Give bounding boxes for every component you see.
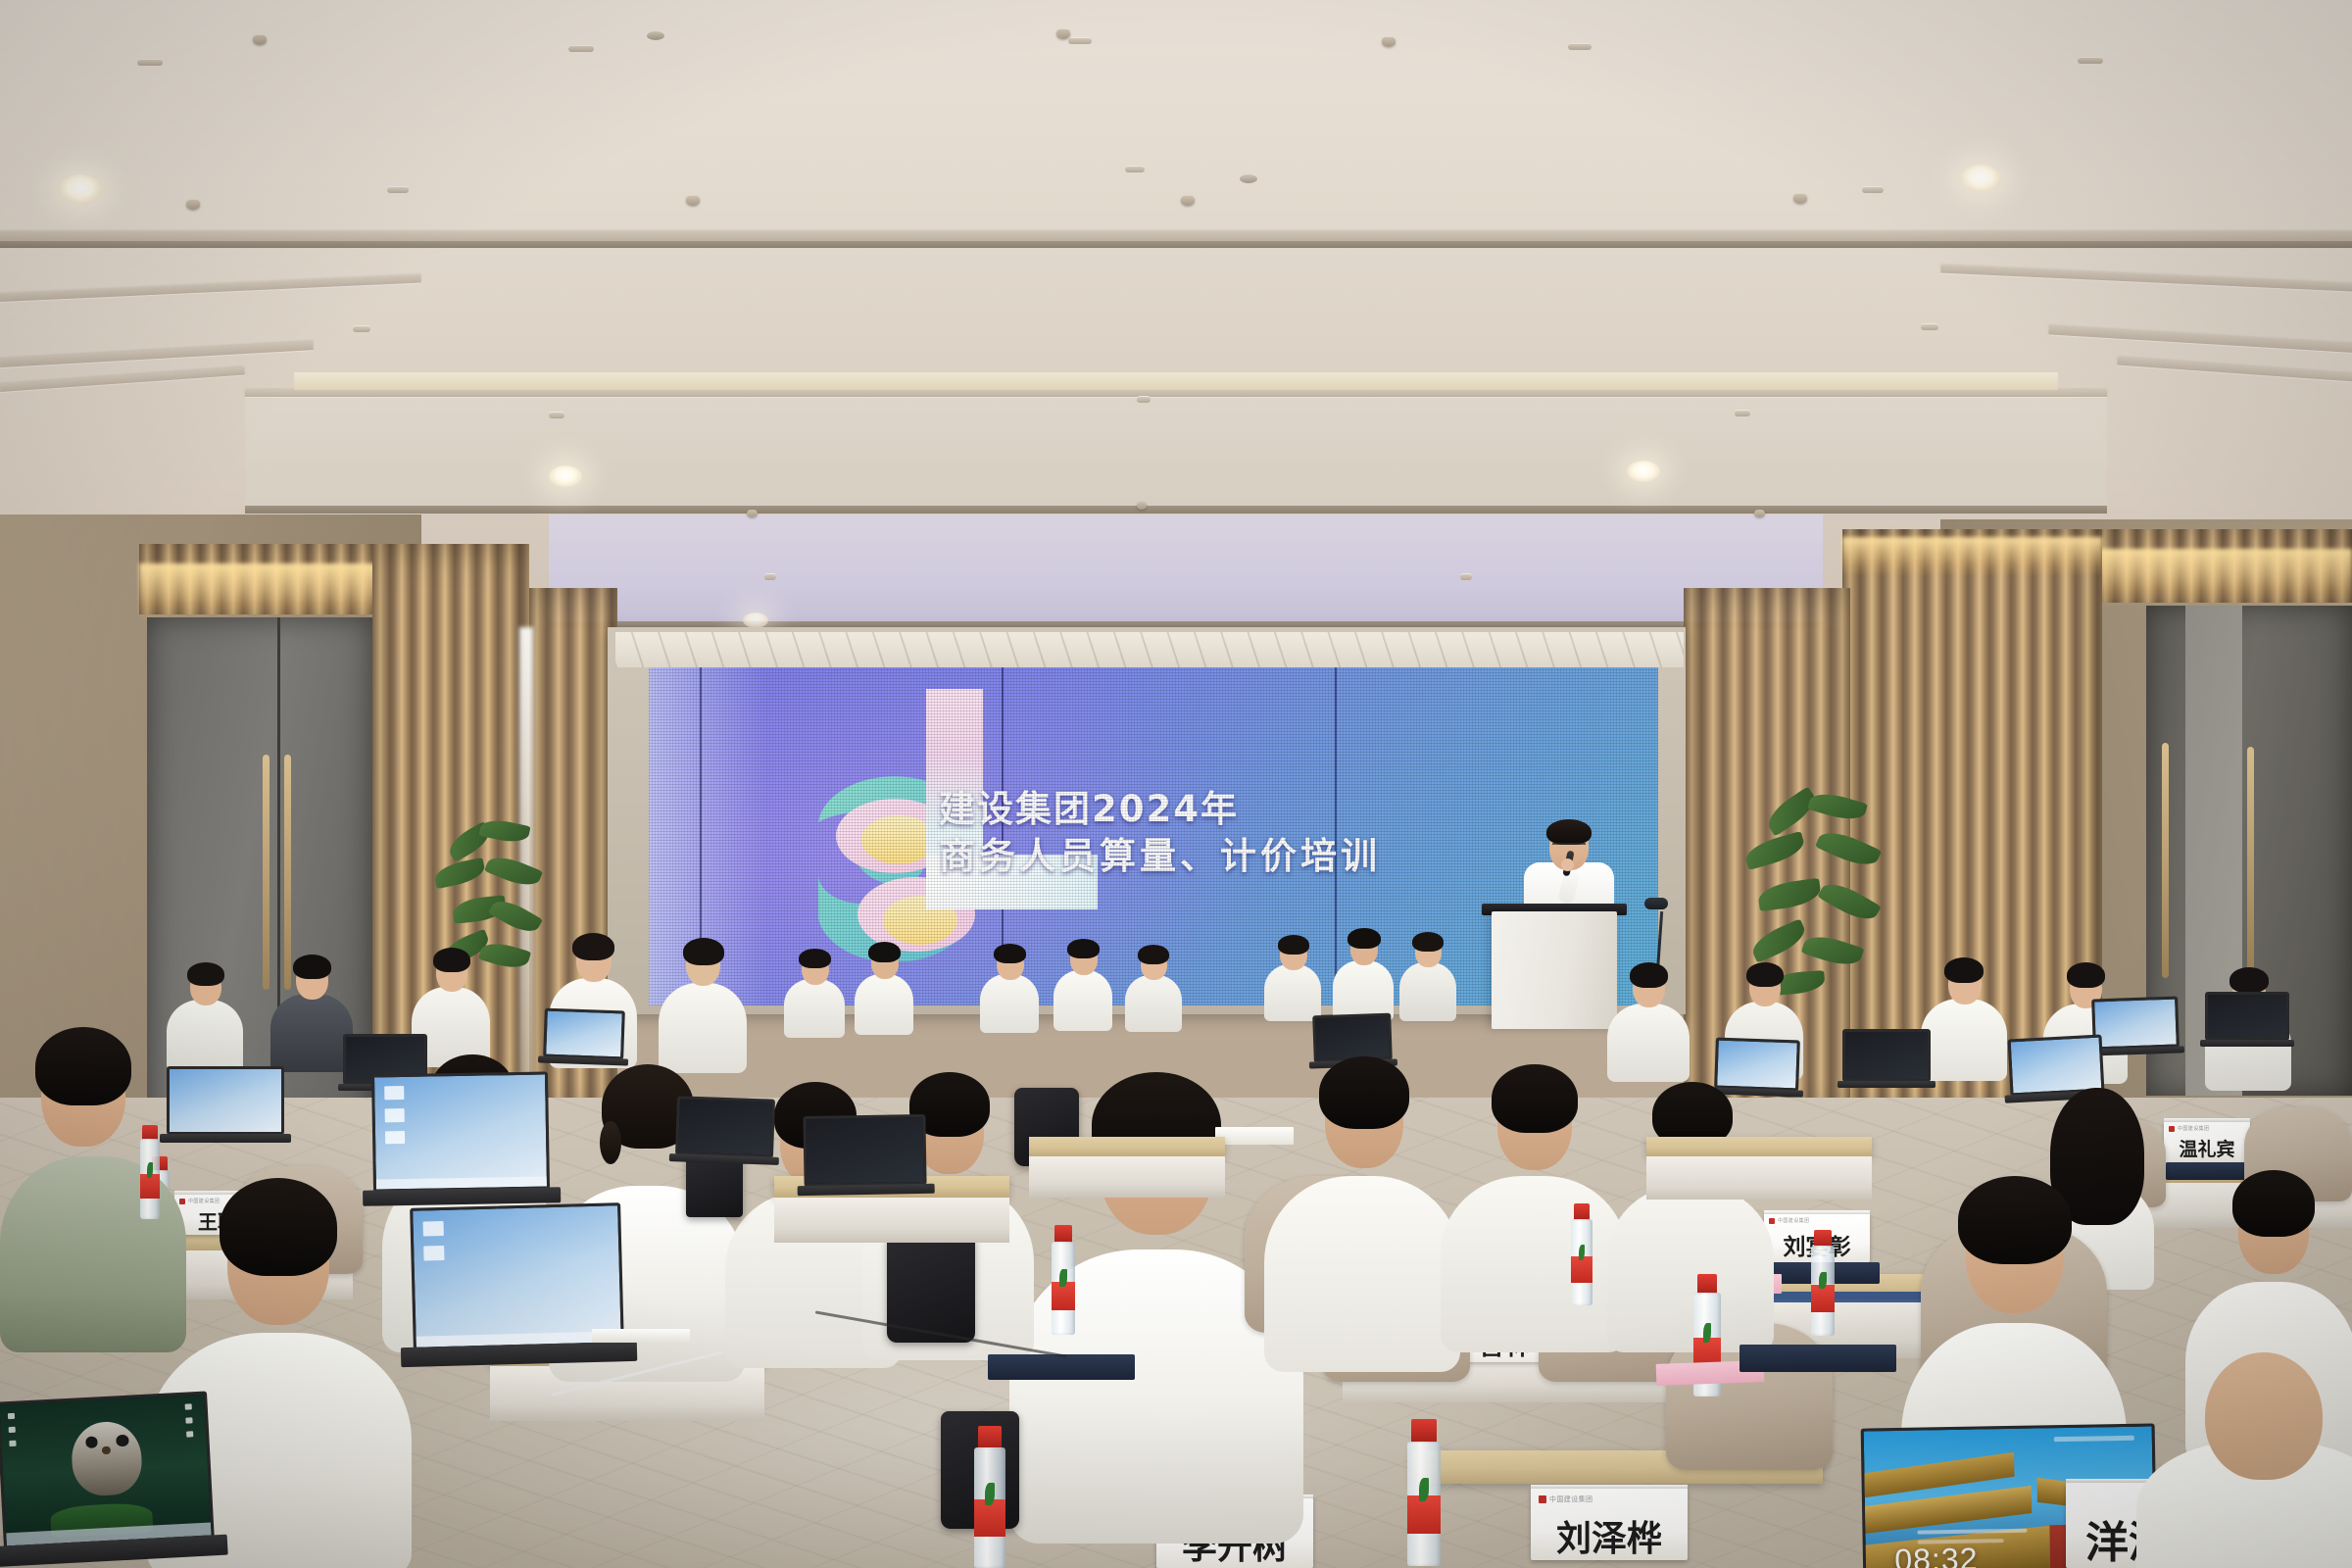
mic-head <box>1644 898 1668 909</box>
ceiling-beam <box>1940 265 2352 291</box>
name-card-org: 中国建设集团 <box>2178 1125 2209 1132</box>
ceiling-beam <box>245 390 2107 397</box>
screen-title: 建设集团2024年 商务人员算量、计价培训 <box>939 787 1605 881</box>
table-skirt <box>1029 1156 1225 1198</box>
attendee <box>1441 1049 1627 1343</box>
laptop[interactable] <box>167 1066 284 1135</box>
table <box>1646 1137 1872 1156</box>
logo-s-icon <box>801 746 1006 961</box>
ceiling-spot <box>387 186 409 193</box>
ceiling-spot <box>353 325 370 332</box>
sprinkler-head <box>1793 194 1807 204</box>
attendee <box>1264 1039 1460 1362</box>
sprinkler-head <box>253 35 267 45</box>
ceiling-spot <box>2078 57 2103 64</box>
logo-l-icon <box>926 689 1063 909</box>
ceiling-spot <box>568 45 594 52</box>
ceiling-speaker <box>1240 174 1257 183</box>
ceiling-beam <box>0 341 314 367</box>
sprinkler-head <box>1056 29 1070 39</box>
ceiling-downlight <box>743 612 768 628</box>
ceiling-beam <box>0 367 245 392</box>
name-card-name: 刘泽桦 <box>1535 1522 1684 1557</box>
sprinkler-head <box>686 196 700 206</box>
notebook <box>1739 1345 1896 1372</box>
table-skirt <box>1646 1156 1872 1200</box>
ceiling-downlight <box>59 174 102 204</box>
ceiling-beam <box>0 274 421 301</box>
ceiling-soffit-lit <box>549 514 1823 630</box>
ceiling-spot <box>1460 573 1472 580</box>
attendee <box>855 939 913 1033</box>
laptop-screen <box>0 1391 215 1548</box>
brand-logo <box>801 689 1095 973</box>
ceiling-beam-shadow <box>0 241 2352 248</box>
laptop[interactable] <box>2205 992 2289 1041</box>
attendee <box>1333 925 1394 1019</box>
ponytail <box>600 1121 621 1164</box>
ceiling-beam <box>2117 358 2352 382</box>
table-skirt <box>774 1198 1009 1243</box>
attendee <box>980 941 1039 1031</box>
cove-light-right-tall <box>1842 537 2102 576</box>
sprinkler-head <box>1181 196 1195 206</box>
laptop[interactable] <box>371 1071 550 1192</box>
ceiling-panel <box>245 392 2107 510</box>
lockscreen-clock: 08:32 <box>1894 1541 1979 1568</box>
name-card: 中国建设集团 刘泽桦 <box>1531 1488 1688 1560</box>
ceiling-spot <box>1568 43 1592 50</box>
notebook <box>988 1354 1135 1380</box>
cove-light-right <box>2097 549 2352 608</box>
attendee <box>1053 936 1112 1029</box>
screen-title-line1: 建设集团2024年 <box>939 787 1605 832</box>
water-bottle <box>1049 1225 1078 1335</box>
ceiling-spot <box>1137 396 1151 403</box>
ceiling-spot <box>549 412 564 418</box>
door-handle[interactable] <box>2247 747 2254 972</box>
ceiling-beam <box>245 506 2107 514</box>
ceiling-downlight <box>1960 165 2001 192</box>
ceiling-spot <box>1735 410 1750 416</box>
name-card-org: 中国建设集团 <box>1778 1217 1809 1224</box>
sprinkler-head <box>1137 502 1147 510</box>
ceiling-speaker <box>647 31 664 40</box>
sprinkler-head <box>1754 510 1765 517</box>
water-bottle <box>1808 1230 1837 1336</box>
sprinkler-head <box>1382 37 1396 47</box>
podium: 天明云道 TIANMING <box>1492 911 1617 1029</box>
ceiling-beam <box>2048 325 2352 354</box>
laptop[interactable] <box>675 1096 775 1157</box>
attendee <box>270 953 353 1068</box>
laptop[interactable] <box>2091 996 2180 1050</box>
table <box>1029 1137 1225 1156</box>
attendee <box>1399 929 1456 1019</box>
attendee-front-bottom-right <box>2136 1352 2352 1568</box>
screen-title-line2: 商务人员算量、计价培训 <box>939 832 1605 881</box>
laptop[interactable] <box>1842 1029 1931 1082</box>
water-bottle <box>1568 1203 1595 1305</box>
water-bottle <box>970 1426 1009 1568</box>
ceiling-cove-lip <box>294 372 2058 390</box>
ceiling-downlight <box>1627 461 1660 482</box>
paper-handout <box>592 1329 690 1343</box>
sprinkler-head <box>747 510 758 517</box>
conference-room-photo: 建设集团2024年 商务人员算量、计价培训 <box>0 0 2352 1568</box>
ceiling-spot <box>764 573 776 580</box>
ceiling-beam <box>0 231 2352 241</box>
bag <box>686 1156 743 1217</box>
door-handle[interactable] <box>263 755 269 990</box>
sprinkler-head <box>186 200 200 210</box>
attendee <box>1264 931 1321 1019</box>
attendee <box>784 946 845 1036</box>
paper-handout <box>1215 1127 1294 1145</box>
ceiling-spot <box>1068 37 1092 44</box>
laptop-owl-wallpaper[interactable] <box>0 1391 215 1548</box>
ceiling-spot <box>137 59 163 66</box>
ceiling-spot <box>1921 323 1938 330</box>
laptop[interactable] <box>803 1114 926 1187</box>
ceiling-spot <box>1862 186 1884 193</box>
ceiling-spot <box>1125 166 1145 172</box>
name-card-org: 中国建设集团 <box>1549 1494 1592 1504</box>
water-bottle <box>1403 1419 1445 1566</box>
ceiling-downlight <box>549 465 582 487</box>
attendee <box>1125 943 1182 1031</box>
stage-header-marble <box>615 632 1684 667</box>
attendee <box>1921 955 2007 1078</box>
door-handle[interactable] <box>2162 743 2169 978</box>
